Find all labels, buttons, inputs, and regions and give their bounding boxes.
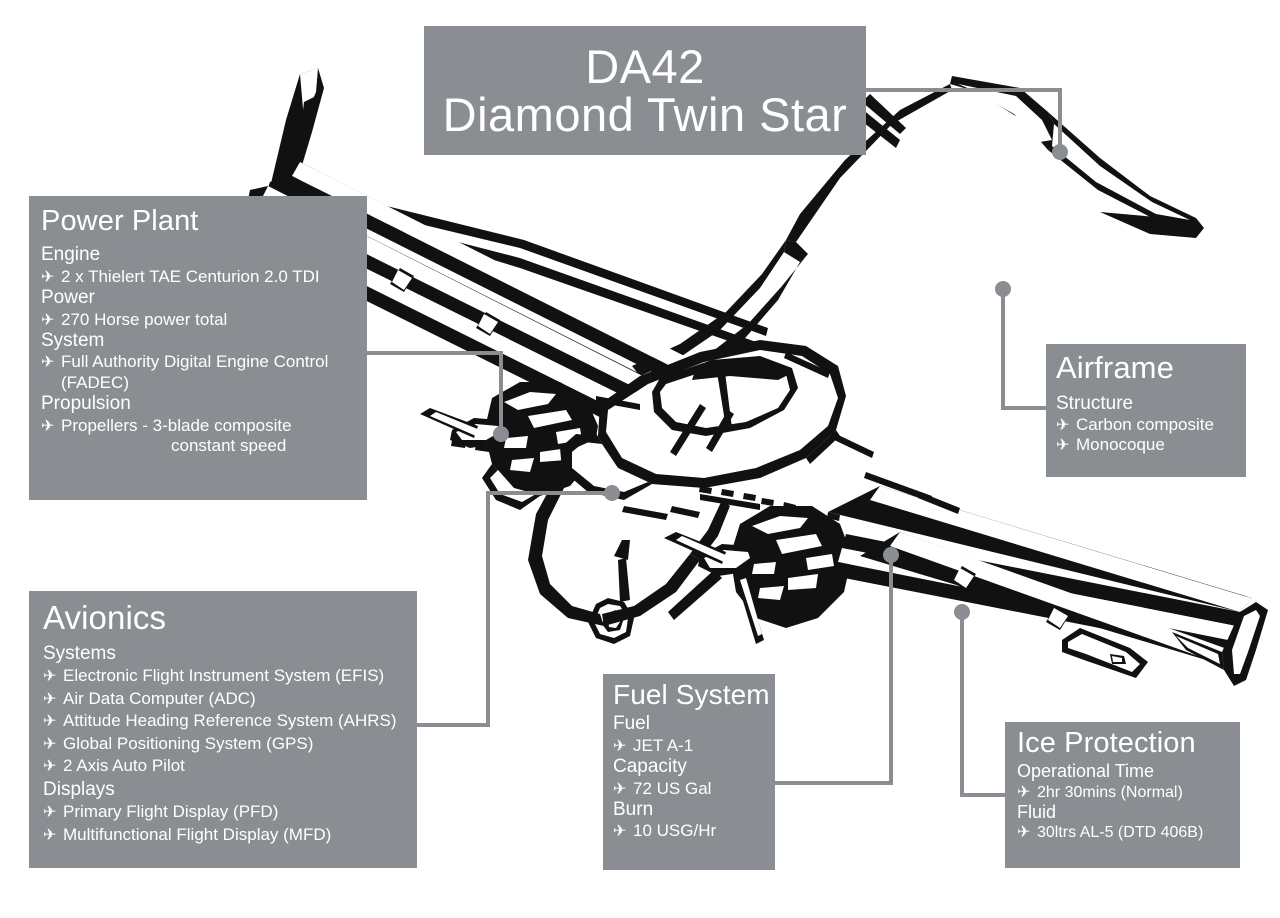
spec-item-systems-1: ✈ Electronic Flight Instrument System (E…: [43, 665, 417, 687]
callout-avionics: Avionics Systems ✈ Electronic Flight Ins…: [29, 591, 417, 868]
spec-text: JET A-1: [633, 736, 693, 756]
spec-item-systems-4: ✈ Global Positioning System (GPS): [43, 733, 417, 755]
group-label-propulsion: Propulsion: [41, 393, 367, 415]
group-label-burn: Burn: [613, 799, 775, 821]
callout-airframe: Airframe Structure ✈ Carbon composite ✈ …: [1046, 344, 1246, 477]
spec-text: 2hr 30mins (Normal): [1037, 783, 1183, 802]
leader-dot-fuel: [883, 547, 899, 563]
airplane-bullet-icon: ✈: [1056, 416, 1076, 435]
spec-text: Full Authority Digital Engine Control: [61, 352, 328, 372]
aircraft-model-designation: DA42: [585, 43, 705, 91]
group-label-systems: Systems: [43, 642, 417, 666]
group-label-capacity: Capacity: [613, 756, 775, 778]
airplane-bullet-icon: ✈: [43, 825, 63, 846]
spec-text: Air Data Computer (ADC): [63, 688, 256, 710]
leader-dot-engine: [493, 426, 509, 442]
airplane-bullet-icon: ✈: [41, 353, 61, 372]
callout-ice-protection: Ice Protection Operational Time ✈ 2hr 30…: [1005, 722, 1240, 868]
spec-text: Multifunctional Flight Display (MFD): [63, 824, 331, 846]
callout-power-plant: Power Plant Engine ✈ 2 x Thielert TAE Ce…: [29, 196, 367, 500]
spec-item-burn-1: ✈ 10 USG/Hr: [613, 821, 775, 841]
group-label-operational-time: Operational Time: [1017, 761, 1240, 782]
spec-item-power-1: ✈ 270 Horse power total: [41, 310, 367, 330]
aircraft-model-name: Diamond Twin Star: [443, 91, 848, 139]
group-label-fuel: Fuel: [613, 713, 775, 735]
spec-item-systems-3: ✈ Attitude Heading Reference System (AHR…: [43, 710, 417, 732]
spec-text: Primary Flight Display (PFD): [63, 801, 278, 823]
spec-item-structure-2: ✈ Monocoque: [1056, 435, 1246, 455]
airplane-bullet-icon: ✈: [43, 666, 63, 687]
spec-item-displays-2: ✈ Multifunctional Flight Display (MFD): [43, 824, 417, 846]
airplane-bullet-icon: ✈: [43, 756, 63, 777]
airplane-bullet-icon: ✈: [41, 311, 61, 330]
airplane-bullet-icon: ✈: [43, 711, 63, 732]
spec-text: Monocoque: [1076, 435, 1165, 455]
airplane-bullet-icon: ✈: [43, 689, 63, 710]
leader-dot-fuselage: [995, 281, 1011, 297]
spec-item-systems-5: ✈ 2 Axis Auto Pilot: [43, 755, 417, 777]
group-label-fluid: Fluid: [1017, 802, 1240, 823]
callout-fuel-system: Fuel System Fuel ✈ JET A-1 Capacity ✈ 72…: [603, 674, 775, 870]
airplane-bullet-icon: ✈: [41, 268, 61, 287]
callout-heading-power-plant: Power Plant: [41, 206, 367, 236]
group-label-engine: Engine: [41, 244, 367, 266]
spec-text: Attitude Heading Reference System (AHRS): [63, 710, 397, 732]
spec-item-propulsion-1-continuation: constant speed: [41, 436, 367, 456]
leader-fuel-to-wing: [775, 555, 891, 783]
airplane-bullet-icon: ✈: [613, 780, 633, 799]
spec-item-operational-time-1: ✈ 2hr 30mins (Normal): [1017, 783, 1240, 802]
group-label-structure: Structure: [1056, 393, 1246, 415]
spec-item-systems-2: ✈ Air Data Computer (ADC): [43, 688, 417, 710]
airplane-bullet-icon: ✈: [1017, 823, 1037, 842]
leader-avionics-to-nacelle: [417, 493, 612, 725]
diagram-canvas: DA42 Diamond Twin Star Power Plant Engin…: [0, 0, 1280, 918]
callout-title-block: DA42 Diamond Twin Star: [424, 26, 866, 155]
spec-text: 10 USG/Hr: [633, 821, 716, 841]
spec-item-system-1: ✈ Full Authority Digital Engine Control: [41, 352, 367, 372]
airplane-bullet-icon: ✈: [1056, 436, 1076, 455]
airplane-bullet-icon: ✈: [613, 822, 633, 841]
spec-item-fluid-1: ✈ 30ltrs AL-5 (DTD 406B): [1017, 823, 1240, 842]
callout-heading-airframe: Airframe: [1056, 352, 1246, 385]
group-label-system: System: [41, 330, 367, 352]
spec-text: 30ltrs AL-5 (DTD 406B): [1037, 823, 1203, 842]
leader-powerplant-to-engine: [367, 353, 501, 434]
group-label-power: Power: [41, 287, 367, 309]
airplane-bullet-icon: ✈: [41, 417, 61, 436]
spec-text: Propellers - 3-blade composite: [61, 416, 292, 436]
spec-item-system-1-continuation: (FADEC): [41, 373, 367, 393]
spec-text: Carbon composite: [1076, 415, 1214, 435]
callout-heading-ice-protection: Ice Protection: [1017, 728, 1240, 758]
callout-heading-fuel-system: Fuel System: [613, 680, 775, 709]
leader-airframe-to-fuselage: [1003, 289, 1046, 408]
spec-text: Global Positioning System (GPS): [63, 733, 313, 755]
leader-title-to-tail: [866, 90, 1060, 152]
airplane-bullet-icon: ✈: [1017, 783, 1037, 802]
airplane-bullet-icon: ✈: [43, 734, 63, 755]
spec-text: Electronic Flight Instrument System (EFI…: [63, 665, 384, 687]
spec-item-engine-1: ✈ 2 x Thielert TAE Centurion 2.0 TDI: [41, 267, 367, 287]
leader-dot-nacelle: [604, 485, 620, 501]
spec-item-fuel-1: ✈ JET A-1: [613, 736, 775, 756]
callout-heading-avionics: Avionics: [43, 601, 417, 636]
leader-ice-to-wing: [962, 612, 1005, 795]
leader-dot-ice: [954, 604, 970, 620]
airplane-bullet-icon: ✈: [43, 802, 63, 823]
spec-item-displays-1: ✈ Primary Flight Display (PFD): [43, 801, 417, 823]
airplane-bullet-icon: ✈: [613, 737, 633, 756]
spec-text: 2 x Thielert TAE Centurion 2.0 TDI: [61, 267, 320, 287]
group-label-displays: Displays: [43, 778, 417, 802]
spec-item-capacity-1: ✈ 72 US Gal: [613, 779, 775, 799]
leader-dot-tail: [1052, 144, 1068, 160]
spec-text: 270 Horse power total: [61, 310, 227, 330]
spec-text: 2 Axis Auto Pilot: [63, 755, 185, 777]
spec-text: 72 US Gal: [633, 779, 711, 799]
spec-item-propulsion-1: ✈ Propellers - 3-blade composite: [41, 416, 367, 436]
spec-item-structure-1: ✈ Carbon composite: [1056, 415, 1246, 435]
